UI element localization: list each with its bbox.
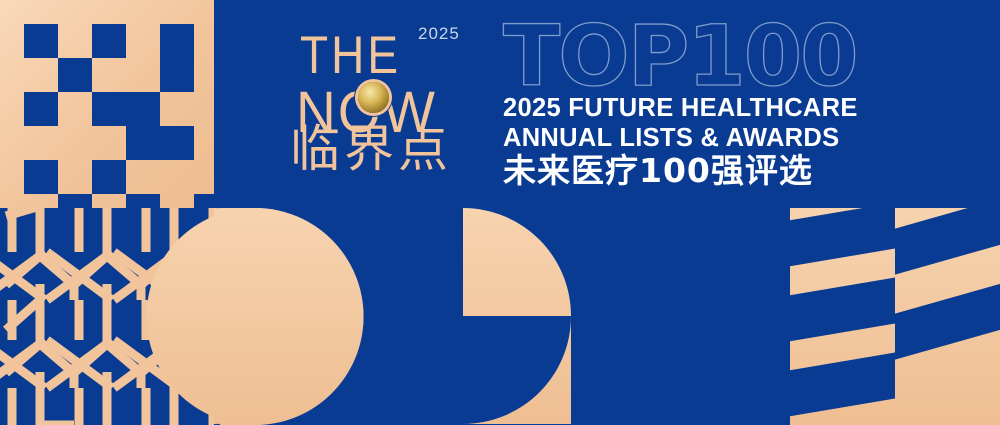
subtitle-en-line1: 2025 FUTURE HEALTHCARE	[503, 96, 963, 122]
brand-chinese-name: 临界点	[290, 124, 452, 174]
circle-shape-flat-edge	[220, 208, 256, 425]
checkerboard-pattern	[0, 0, 214, 208]
top100-title: TOP100	[503, 20, 963, 92]
subtitle-cn: 未来医疗100强评选	[503, 154, 963, 189]
diagonal-stripes-panel-right	[890, 196, 1000, 425]
headline-block: TOP100 2025 FUTURE HEALTHCARE ANNUAL LIS…	[503, 20, 963, 189]
diagonal-stripes-panel-left	[780, 200, 910, 425]
brand-line-the: THE	[300, 28, 401, 81]
brand-year: 2025	[418, 24, 460, 44]
gold-orb-icon	[358, 82, 389, 113]
poster-banner: THE 2025 NOW 临界点 TOP100 2025 FUTURE HEAL…	[0, 0, 1000, 425]
subtitle-en-line2: ANNUAL LISTS & AWARDS	[503, 126, 963, 152]
